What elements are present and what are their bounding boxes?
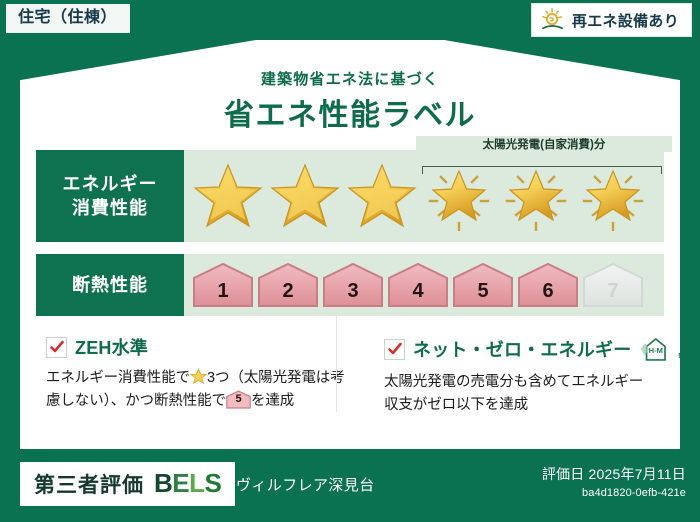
netzero-text-line2: 収支がゼロ以下を達成	[384, 394, 666, 417]
label-title: 省エネ性能ラベル	[20, 90, 680, 134]
star-3	[344, 158, 420, 234]
insulation-level-scale: 1 2 3 4 5	[184, 262, 644, 308]
housing-type-tag: 住宅（住棟）	[6, 4, 130, 33]
zeh-checkbox	[46, 337, 67, 358]
zeh-description: エネルギー消費性能で3つ（太陽光発電は考慮しない）、かつ断熱性能で5を達成	[46, 367, 348, 414]
zeh-m-logo-tag: 「ZEH-M」	[678, 341, 700, 364]
bels-letter-b: B	[154, 468, 172, 498]
zeh-title: ZEH水準	[75, 334, 148, 360]
bels-letter-s: S	[205, 468, 222, 498]
insulation-label-text: 断熱性能	[72, 273, 148, 297]
evaluation-meta: 評価日 2025年7月11日 ba4d1820-0efb-421e	[542, 464, 686, 499]
netzero-text-line1: 太陽光発電の売電分も含めてエネルギー	[384, 371, 666, 394]
inline-house-num: 5	[226, 390, 251, 409]
renewable-energy-badge: 再エネ設備あり	[531, 3, 692, 37]
insulation-level-7-num: 7	[607, 280, 618, 308]
insulation-level-6-num: 6	[542, 280, 553, 308]
energy-label-line1: エネルギー	[63, 172, 158, 196]
zeh-heading: ZEH水準	[46, 334, 348, 360]
insulation-level-1-num: 1	[217, 280, 228, 308]
renewable-energy-badge-label: 再エネ設備あり	[572, 10, 679, 31]
insulation-level-5-num: 5	[477, 280, 488, 308]
zeh-criteria-block: ZEH水準 エネルギー消費性能で3つ（太陽光発電は考慮しない）、かつ断熱性能で5…	[46, 334, 364, 418]
insulation-level-2: 2	[257, 262, 319, 308]
insulation-performance-label: 断熱性能	[36, 254, 184, 316]
zeh-text-a: エネルギー消費性能で	[46, 370, 190, 386]
evaluation-id: ba4d1820-0efb-421e	[542, 487, 686, 499]
solar-bracket	[422, 152, 662, 174]
bels-letter-e: E	[172, 468, 189, 498]
evaluation-date: 評価日 2025年7月11日	[542, 464, 686, 484]
insulation-level-7: 7	[582, 262, 644, 308]
footer: 第三者評価 BELS ヴィルフレア深見台 評価日 2025年7月11日 ba4d…	[0, 450, 700, 522]
bels-en-label: BELS	[154, 468, 221, 499]
zeh-text-d: を達成	[251, 393, 294, 409]
criteria-divider	[336, 316, 337, 412]
sun-icon	[540, 8, 566, 32]
insulation-level-3: 3	[322, 262, 384, 308]
star-2	[267, 158, 343, 234]
zeh-text-b: 3つ（太陽光発電	[207, 370, 316, 386]
check-icon	[387, 341, 403, 357]
bels-logo: 第三者評価 BELS	[20, 462, 235, 506]
star-1	[190, 158, 266, 234]
netzero-checkbox	[384, 339, 405, 360]
insulation-level-4: 4	[387, 262, 449, 308]
energy-label-line2: 消費性能	[72, 196, 148, 220]
zeh-m-house-icon: H-M	[639, 334, 676, 364]
label-card: 建築物省エネ法に基づく 省エネ性能ラベル エネルギー 消費性能 太陽光発電(自家…	[20, 24, 680, 449]
bels-jp-label: 第三者評価	[34, 469, 144, 499]
property-name: ヴィルフレア深見台	[236, 474, 375, 495]
inline-insulation-house-icon: 5	[226, 390, 251, 409]
criteria-section: ZEH水準 エネルギー消費性能で3つ（太陽光発電は考慮しない）、かつ断熱性能で5…	[46, 334, 682, 418]
solar-caption: 太陽光発電(自家消費)分	[416, 136, 672, 152]
insulation-level-5: 5	[452, 262, 514, 308]
insulation-level-3-num: 3	[347, 280, 358, 308]
svg-text:H-M: H-M	[649, 346, 663, 355]
netzero-criteria-block: ネット・ゼロ・エネルギー H-M 「ZEH-M」 太陽光発電の売電分も含めてエネ…	[364, 334, 682, 418]
netzero-title: ネット・ゼロ・エネルギー	[413, 336, 631, 362]
check-icon	[49, 339, 65, 355]
inline-star-icon	[190, 368, 207, 385]
zeh-m-logo: H-M 「ZEH-M」	[639, 334, 700, 364]
bels-letter-l: L	[189, 468, 204, 498]
insulation-levels-panel: 1 2 3 4 5	[184, 254, 664, 316]
insulation-level-2-num: 2	[282, 280, 293, 308]
insulation-performance-row: 断熱性能 1 2	[36, 254, 664, 316]
insulation-level-6: 6	[517, 262, 579, 308]
energy-performance-label: エネルギー 消費性能	[36, 150, 184, 242]
netzero-description: 太陽光発電の売電分も含めてエネルギー 収支がゼロ以下を達成	[384, 371, 666, 418]
energy-performance-row: エネルギー 消費性能 太陽光発電(自家消費)分	[36, 150, 664, 242]
insulation-level-1: 1	[192, 262, 254, 308]
netzero-heading: ネット・ゼロ・エネルギー H-M 「ZEH-M」	[384, 334, 666, 364]
label-subtitle: 建築物省エネ法に基づく	[20, 68, 680, 89]
energy-stars-panel: 太陽光発電(自家消費)分	[184, 150, 664, 242]
insulation-level-4-num: 4	[412, 280, 423, 308]
